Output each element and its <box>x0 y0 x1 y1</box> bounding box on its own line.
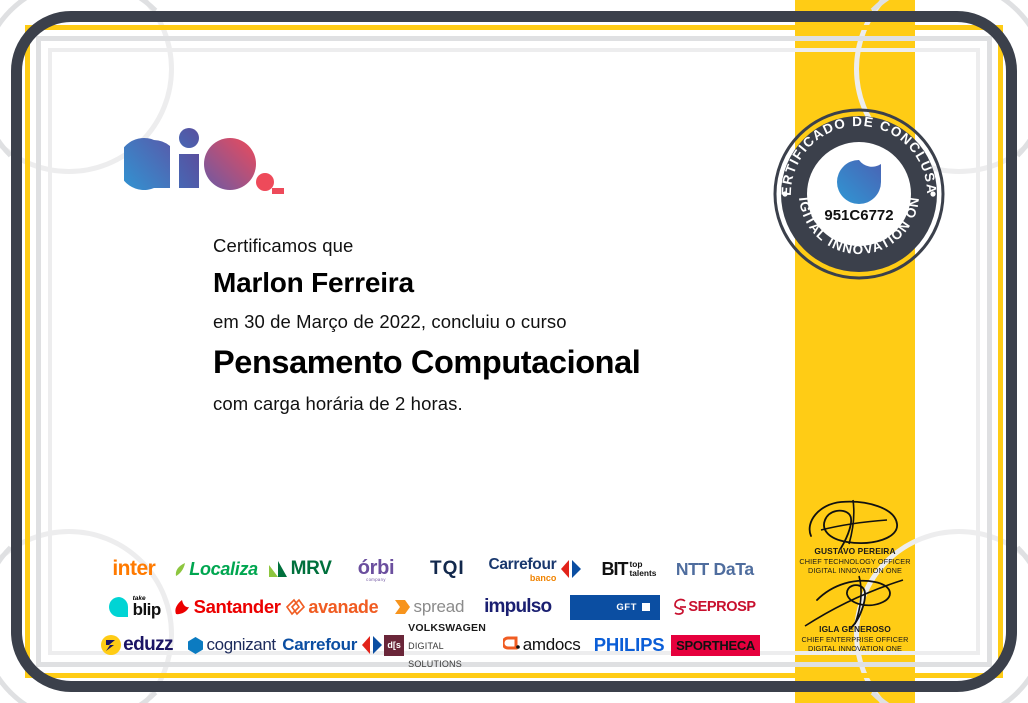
workload-text: com carga horária de 2 horas. <box>213 390 773 418</box>
partner-logo-avanade: avanade <box>281 588 383 626</box>
gft-square-icon <box>642 603 650 611</box>
avanade-mark-icon <box>285 598 305 616</box>
signature-block-1: GUSTAVO PEREIRA CHIEF TECHNOLOGY OFFICER… <box>795 498 915 576</box>
completion-seal: CERTIFICADO DE CONCLUSÃO DIGITAL INNOVAT… <box>773 108 945 280</box>
partner-logo-localiza: Localiza <box>173 550 260 588</box>
intro-text: Certificamos que <box>213 232 773 260</box>
partner-logo-tqi: TQI <box>411 550 483 588</box>
partner-logo-santander: Santander <box>173 588 281 626</box>
partner-logo-volkswagen-digital-solutions: d[s VOLKSWAGEN DIGITAL SOLUTIONS <box>384 626 496 664</box>
partner-logo-carrefour: Carrefour <box>282 626 384 664</box>
signature-org-2: DIGITAL INNOVATION ONE <box>795 644 915 653</box>
localiza-mark-icon <box>174 562 187 577</box>
course-title: Pensamento Computacional <box>213 341 773 383</box>
partner-logo-eduzz: eduzz <box>95 626 179 664</box>
recipient-name: Marlon Ferreira <box>213 264 773 302</box>
partner-logo-seprosp: SEPROSP <box>669 588 760 626</box>
date-line: em 30 de Março de 2022, concluiu o curso <box>213 308 773 336</box>
partner-logo-ntt-data: NTT DaTa <box>670 550 760 588</box>
partner-logo-philips: PHILIPS <box>587 626 671 664</box>
signature-mark-1 <box>803 496 908 552</box>
signature-role-1: CHIEF TECHNOLOGY OFFICER <box>795 557 915 566</box>
cognizant-mark-icon <box>186 636 205 655</box>
partner-logos: inter Localiza MRV órbi company TQI <box>95 550 760 664</box>
partner-logo-gft: GFT <box>561 588 669 626</box>
santander-flame-icon <box>174 599 191 616</box>
partner-row-1: inter Localiza MRV órbi company TQI <box>95 550 760 588</box>
dio-logo <box>124 126 284 196</box>
partner-logo-bit-top-talents: BIT top talents <box>588 550 669 588</box>
seal-code: 951C6772 <box>824 207 893 224</box>
partner-row-3: eduzz cognizant Carrefour d[s <box>95 626 760 664</box>
partner-logo-orbi: órbi company <box>341 550 411 588</box>
mrv-mark-icon <box>269 561 287 578</box>
partner-logo-sportheca: SPORTHECA <box>671 626 760 664</box>
partner-logo-amdocs: amdocs <box>496 626 587 664</box>
blip-bubble-icon <box>108 596 131 619</box>
partner-logo-carrefour-banco: Carrefour banco <box>484 550 589 588</box>
partner-logo-cognizant: cognizant <box>179 626 282 664</box>
partner-logo-inter: inter <box>95 550 173 588</box>
certificate-text: Certificamos que Marlon Ferreira em 30 d… <box>213 232 773 417</box>
dio-droplet-icon <box>837 160 881 204</box>
signature-name-2: IGLA GENEROSO <box>795 624 915 635</box>
signature-name-1: GUSTAVO PEREIRA <box>795 546 915 557</box>
spread-arrow-icon <box>393 598 411 616</box>
carrefour-mark-icon <box>559 559 583 579</box>
signature-block-2: IGLA GENEROSO CHIEF ENTERPRISE OFFICER D… <box>795 576 915 654</box>
partner-logo-take-blip: take blip <box>95 588 173 626</box>
signatures: GUSTAVO PEREIRA CHIEF TECHNOLOGY OFFICER… <box>795 498 915 654</box>
partner-logo-mrv: MRV <box>259 550 340 588</box>
certificate: Certificamos que Marlon Ferreira em 30 d… <box>0 0 1028 703</box>
carrefour-mark-icon-2 <box>360 635 384 655</box>
signature-role-2: CHIEF ENTERPRISE OFFICER <box>795 635 915 644</box>
seprosp-mark-icon <box>673 598 687 616</box>
eduzz-mark-icon <box>101 635 121 655</box>
vw-ds-mark-icon: d[s <box>384 635 404 656</box>
amdocs-mark-icon <box>503 636 520 655</box>
